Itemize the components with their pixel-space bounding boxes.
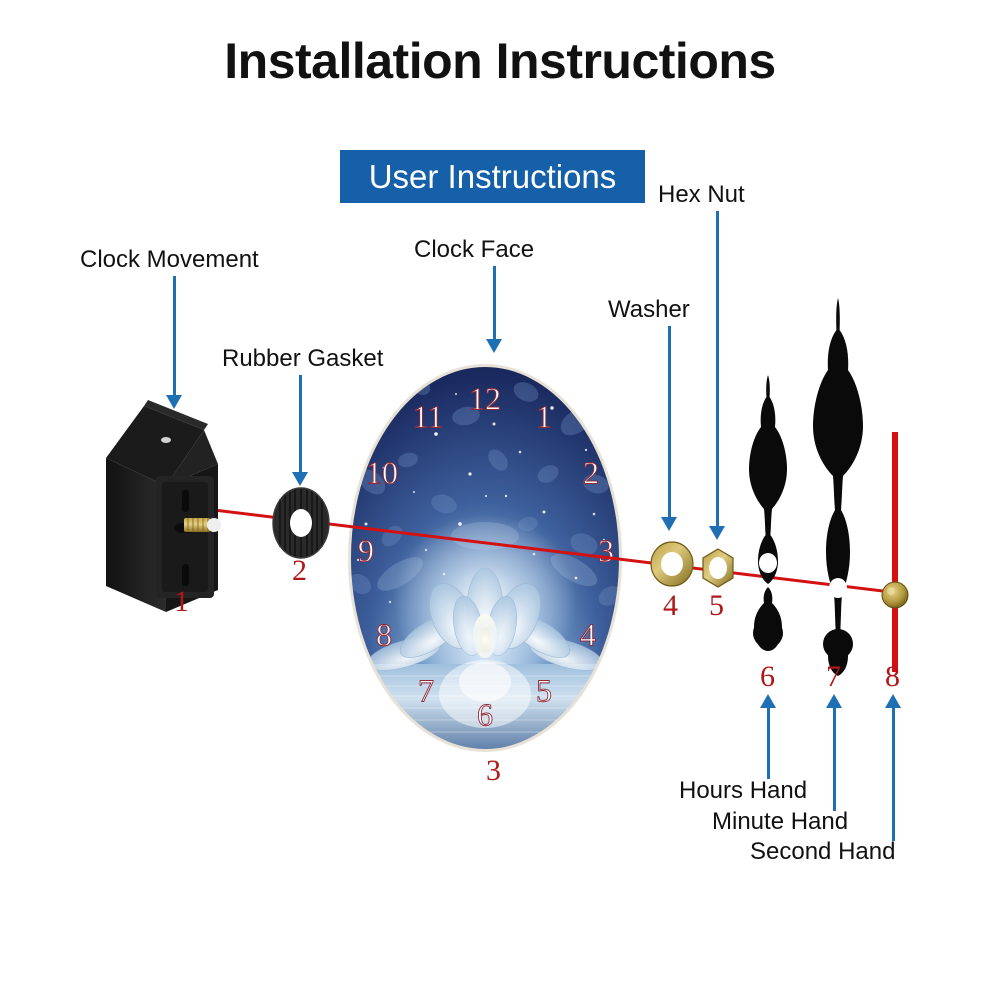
clock-face-graphic: 12 1 2 3 4 5 6 7 8 9 10 11: [348, 364, 622, 752]
hex-nut-graphic: [700, 548, 736, 588]
clock-numeral-8: 8: [376, 616, 392, 652]
clock-numeral-2: 2: [583, 454, 599, 490]
clock-numeral-9: 9: [358, 532, 374, 568]
arrowhead-washer: [661, 517, 677, 531]
second-hand-graphic: [878, 432, 912, 672]
arrowhead-minute-hand: [826, 694, 842, 708]
arrowhead-clock-face: [486, 339, 502, 353]
rubber-gasket-graphic: [272, 487, 330, 559]
clock-numeral-6: 6: [477, 696, 493, 732]
arrowhead-hex-nut: [709, 526, 725, 540]
arrowhead-rubber-gasket: [292, 472, 308, 486]
clock-numeral-11: 11: [413, 398, 444, 434]
clock-numeral-7: 7: [418, 672, 434, 708]
clock-numeral-1: 1: [536, 398, 552, 434]
arrowhead-second-hand: [885, 694, 901, 708]
part-number-7: 7: [826, 660, 841, 694]
leader-line-second-hand: [892, 707, 895, 841]
clock-numeral-3: 3: [598, 532, 614, 568]
part-number-4: 4: [663, 589, 678, 623]
callout-washer: Washer: [608, 296, 690, 324]
leader-line-rubber-gasket: [299, 375, 302, 475]
leader-line-hex-nut: [716, 211, 719, 529]
leader-line-hours-hand: [767, 707, 770, 779]
clock-numeral-10: 10: [366, 454, 398, 490]
clock-movement-graphic: [104, 398, 224, 613]
washer-graphic: [650, 541, 694, 587]
callout-hours-hand: Hours Hand: [679, 777, 807, 805]
clock-numeral-4: 4: [580, 616, 596, 652]
part-number-5: 5: [709, 589, 724, 623]
minute-hand-graphic: [805, 298, 871, 676]
user-instructions-banner: User Instructions: [340, 150, 645, 203]
part-number-1: 1: [174, 585, 189, 619]
part-number-2: 2: [292, 554, 307, 588]
leader-line-washer: [668, 326, 671, 520]
callout-rubber-gasket: Rubber Gasket: [222, 345, 383, 373]
clock-numeral-5: 5: [536, 672, 552, 708]
installation-diagram: Installation Instructions User Instructi…: [0, 0, 1000, 1000]
arrowhead-clock-movement: [166, 395, 182, 409]
callout-clock-face: Clock Face: [414, 236, 534, 264]
callout-clock-movement: Clock Movement: [80, 246, 259, 274]
part-number-6: 6: [760, 660, 775, 694]
leader-line-minute-hand: [833, 707, 836, 811]
callout-second-hand: Second Hand: [750, 838, 895, 866]
leader-line-clock-face: [493, 266, 496, 342]
callout-minute-hand: Minute Hand: [712, 808, 848, 836]
leader-line-clock-movement: [173, 276, 176, 398]
arrowhead-hours-hand: [760, 694, 776, 708]
clock-numeral-12: 12: [469, 380, 501, 416]
callout-hex-nut: Hex Nut: [658, 181, 745, 209]
part-number-8: 8: [885, 660, 900, 694]
part-number-3: 3: [486, 754, 501, 788]
hours-hand-graphic: [735, 375, 801, 675]
page-title: Installation Instructions: [0, 32, 1000, 90]
